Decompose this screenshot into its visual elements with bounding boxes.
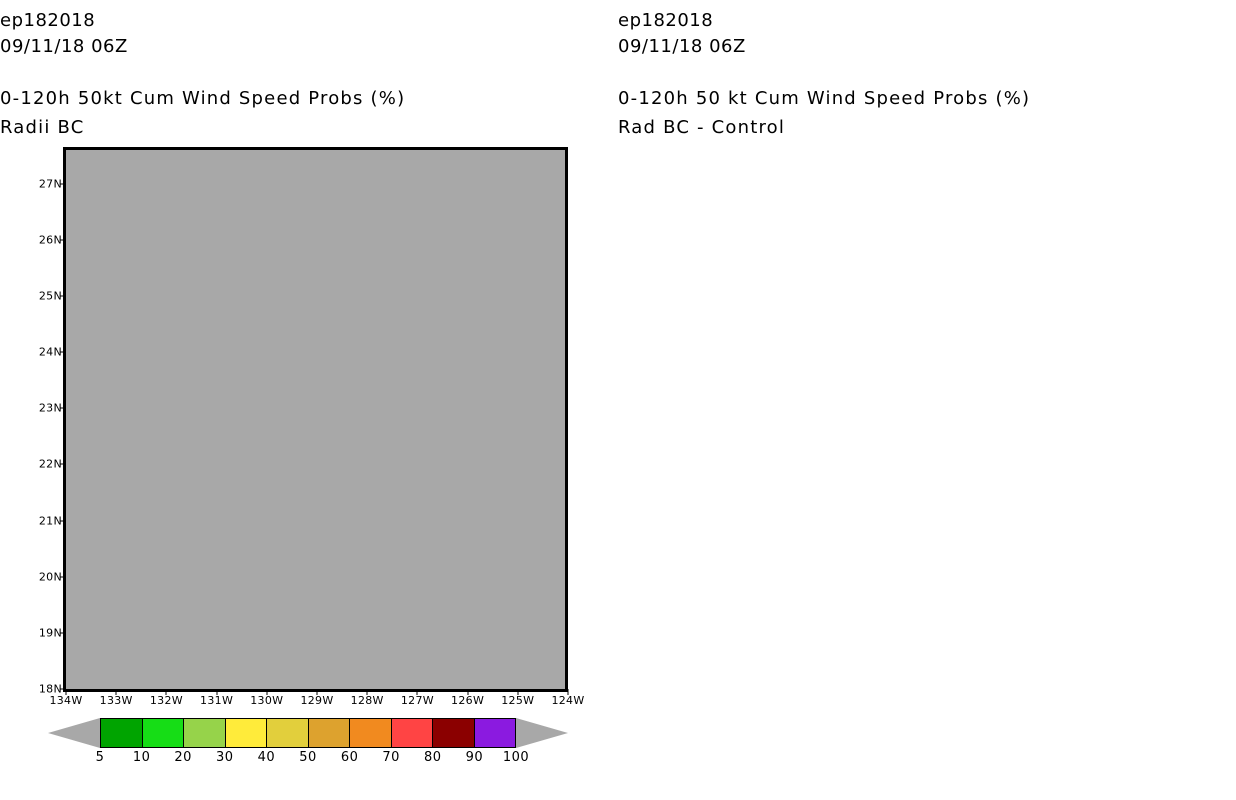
map-plot-radii-bc: 18N19N20N21N22N23N24N25N26N27N134W133W13… xyxy=(63,147,568,692)
y-tick-label-25n: 25N xyxy=(39,289,62,302)
colorbar-probability-swatch xyxy=(267,719,309,747)
dual-panel-forecast-figure: ep182018 09/11/18 06Z 0-120h 50kt Cum Wi… xyxy=(0,0,1236,800)
colorbar-probability-swatch xyxy=(433,719,475,747)
colorbar-probability-tick-label: 100 xyxy=(503,750,529,765)
colorbar-probability-tick-label: 60 xyxy=(341,750,359,765)
x-tick-label-125w: 125W xyxy=(501,694,534,707)
x-tick-label-132w: 132W xyxy=(150,694,183,707)
colorbar-probability-tick-label: 50 xyxy=(299,750,317,765)
panel-radii-bc: ep182018 09/11/18 06Z 0-120h 50kt Cum Wi… xyxy=(0,0,618,800)
y-tick-label-21n: 21N xyxy=(39,514,62,527)
x-tick-label-129w: 129W xyxy=(300,694,333,707)
colorbar-probability-tick-label: 70 xyxy=(382,750,400,765)
colorbar-probability-tick-label: 90 xyxy=(466,750,484,765)
colorbar-left-arrow-high xyxy=(516,718,568,748)
y-tick-label-20n: 20N xyxy=(39,570,62,583)
colorbar-probability-swatch xyxy=(350,719,392,747)
colorbar-probability-tick-label: 30 xyxy=(216,750,234,765)
panel-left-storm-id: ep182018 xyxy=(0,10,618,31)
panel-right-datetime: 09/11/18 06Z xyxy=(618,36,1236,57)
colorbar-left-arrow-low xyxy=(48,718,100,748)
panel-right-storm-id: ep182018 xyxy=(618,10,1236,31)
panel-left-datetime: 09/11/18 06Z xyxy=(0,36,618,57)
colorbar-probability-tick-label: 40 xyxy=(258,750,276,765)
x-tick-label-127w: 127W xyxy=(401,694,434,707)
y-tick-label-23n: 23N xyxy=(39,402,62,415)
panel-left-subtitle: Radii BC xyxy=(0,117,618,138)
x-tick-label-134w: 134W xyxy=(49,694,82,707)
colorbar-probability-tick-label: 20 xyxy=(174,750,192,765)
colorbar-probability-body xyxy=(100,718,516,748)
y-tick-label-22n: 22N xyxy=(39,458,62,471)
panel-right-title: 0-120h 50 kt Cum Wind Speed Probs (%) xyxy=(618,88,1236,109)
panel-rad-bc-control: ep182018 09/11/18 06Z 0-120h 50 kt Cum W… xyxy=(618,0,1236,800)
y-tick-label-26n: 26N xyxy=(39,233,62,246)
panel-right-subtitle: Rad BC - Control xyxy=(618,117,1236,138)
colorbar-probability-swatch xyxy=(475,719,516,747)
colorbar-probability-tick-label: 80 xyxy=(424,750,442,765)
y-tick-label-24n: 24N xyxy=(39,346,62,359)
colorbar-probability-swatch xyxy=(143,719,185,747)
colorbar-probability-swatch xyxy=(184,719,226,747)
colorbar-probability-swatch xyxy=(392,719,434,747)
y-tick-label-27n: 27N xyxy=(39,177,62,190)
colorbar-probability-swatch xyxy=(101,719,143,747)
x-tick-label-130w: 130W xyxy=(250,694,283,707)
colorbar-probability-tick-label: 5 xyxy=(96,750,105,765)
colorbar-probability: 5102030405060708090100 xyxy=(48,718,568,748)
x-tick-label-133w: 133W xyxy=(100,694,133,707)
x-tick-label-126w: 126W xyxy=(451,694,484,707)
y-tick-label-19n: 19N xyxy=(39,626,62,639)
x-tick-label-128w: 128W xyxy=(351,694,384,707)
panel-left-title: 0-120h 50kt Cum Wind Speed Probs (%) xyxy=(0,88,618,109)
colorbar-probability-swatch xyxy=(226,719,268,747)
colorbar-probability-swatch xyxy=(309,719,351,747)
colorbar-probability-tick-label: 10 xyxy=(133,750,151,765)
x-tick-label-131w: 131W xyxy=(200,694,233,707)
x-tick-label-124w: 124W xyxy=(551,694,584,707)
